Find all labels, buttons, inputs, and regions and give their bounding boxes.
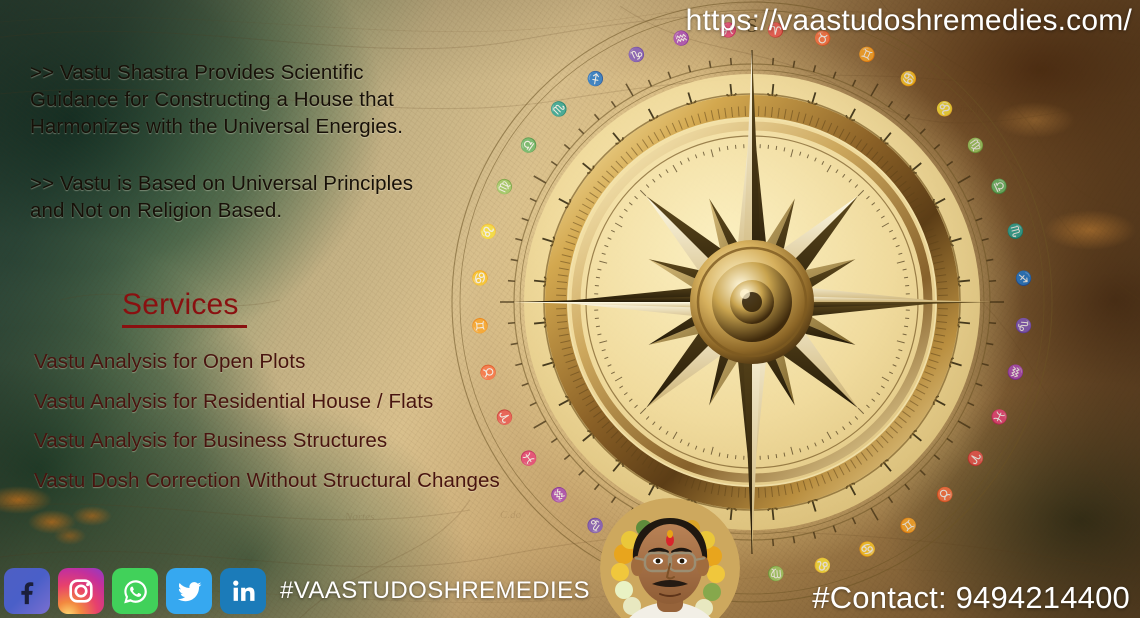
services-heading-label: Services [122, 288, 239, 321]
services-heading: Services [122, 288, 247, 328]
vastu-promotional-banner: Thurindi(...) Cabo C.do Nortes [0, 0, 1140, 618]
tagline-block-2: >> Vastu is Based on Universal Principle… [30, 170, 470, 224]
instagram-icon[interactable] [58, 568, 104, 614]
service-item: Vastu Analysis for Business Structures [34, 421, 500, 461]
service-item: Vastu Dosh Correction Without Structural… [34, 461, 500, 501]
tagline-line: Guidance for Constructing a House that [30, 86, 470, 113]
service-item: Vastu Analysis for Open Plots [34, 342, 500, 382]
whatsapp-icon[interactable] [112, 568, 158, 614]
tagline-line: and Not on Religion Based. [30, 197, 470, 224]
social-media-bar: #VAASTUDOSHREMEDIES [4, 568, 590, 614]
social-hashtag: #VAASTUDOSHREMEDIES [280, 577, 590, 605]
tagline-block-1: >> Vastu Shastra Provides Scientific Gui… [30, 59, 470, 140]
tagline-line: >> Vastu Shastra Provides Scientific [30, 59, 470, 86]
services-list: Vastu Analysis for Open Plots Vastu Anal… [34, 342, 500, 500]
twitter-icon[interactable] [166, 568, 212, 614]
service-item: Vastu Analysis for Residential House / F… [34, 382, 500, 422]
facebook-icon[interactable] [4, 568, 50, 614]
tagline-line: >> Vastu is Based on Universal Principle… [30, 170, 470, 197]
contact-number[interactable]: #Contact: 9494214400 [812, 580, 1130, 616]
website-url[interactable]: https://vaastudoshremedies.com/ [686, 4, 1132, 38]
services-heading-underline [122, 325, 247, 328]
tagline-line: Harmonizes with the Universal Energies. [30, 113, 470, 140]
linkedin-icon[interactable] [220, 568, 266, 614]
